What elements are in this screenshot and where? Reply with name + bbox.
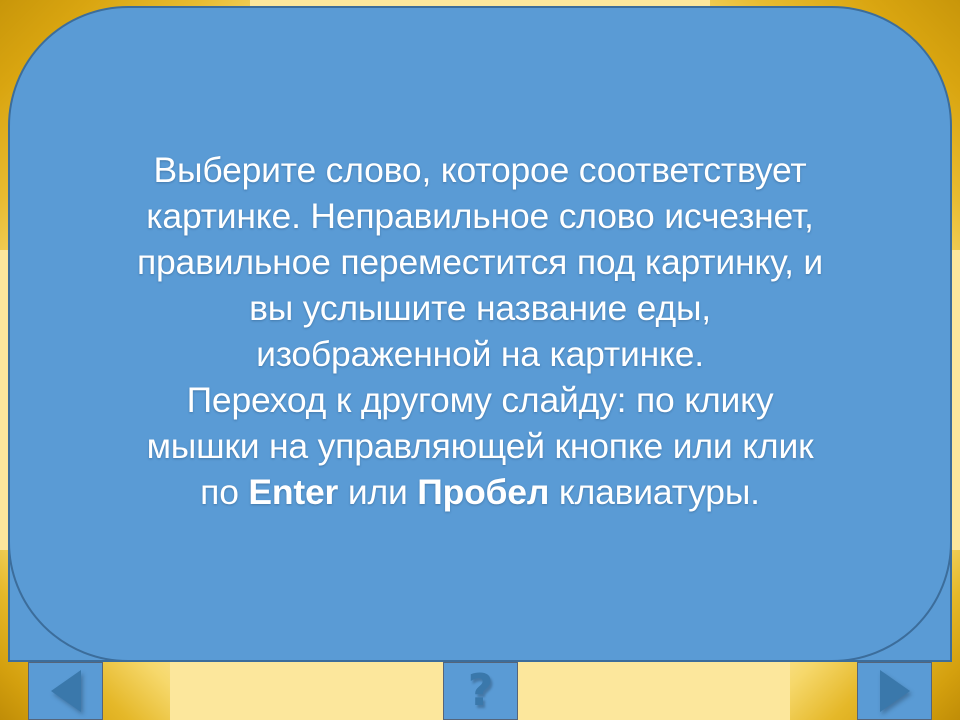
instruction-text-conjunction: или — [338, 472, 417, 512]
key-enter-label: Enter — [248, 472, 338, 512]
next-slide-button[interactable] — [857, 662, 932, 720]
slide-canvas: Выберите слово, которое соответствует ка… — [0, 0, 960, 720]
instruction-text-lead: Выберите слово, которое соответствует ка… — [137, 150, 823, 512]
instruction-text-tail: клавиатуры. — [549, 472, 760, 512]
navigation-bar: ? — [0, 662, 960, 720]
triangle-left-icon — [51, 670, 81, 712]
instruction-paragraph: Выберите слово, которое соответствует ка… — [137, 147, 823, 515]
help-button[interactable]: ? — [443, 662, 518, 720]
triangle-right-icon — [880, 670, 910, 712]
instruction-text-block: Выберите слово, которое соответствует ка… — [0, 0, 960, 662]
previous-slide-button[interactable] — [28, 662, 103, 720]
question-mark-icon: ? — [468, 669, 494, 713]
key-space-label: Пробел — [417, 472, 549, 512]
